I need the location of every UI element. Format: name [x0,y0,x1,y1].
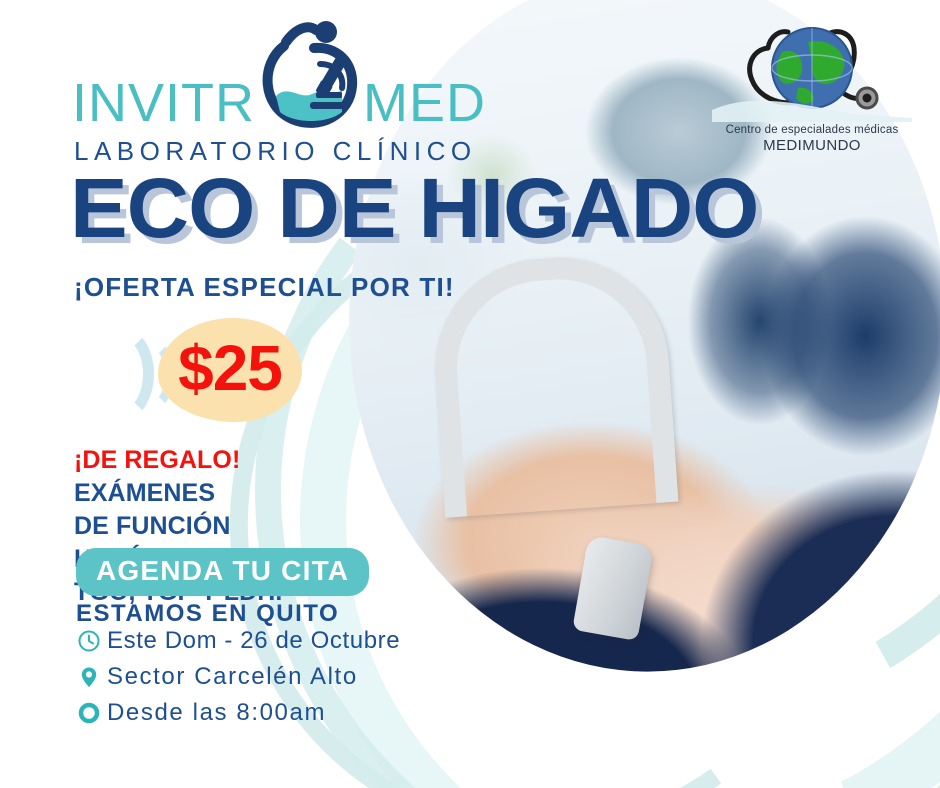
contact-list: Este Dom - 26 de Octubre Sector Carcelén… [76,624,406,732]
contact-location-text: Sector Carcelén Alto [107,663,358,691]
globe-stethoscope-icon [712,14,912,122]
contact-date-text: Este Dom - 26 de Octubre [107,627,400,655]
contact-time-text: Desde las 8:00am [107,699,326,727]
logo-wordmark: INVITRMED [72,76,472,130]
invitromed-logo: INVITRMED LABORATORIO CLÍNICO [72,24,472,158]
partner-caption-line1: Centro de especialades médicas [712,124,912,136]
logo-wordmark-part2: MED [363,73,486,133]
contact-row-location: Sector Carcelén Alto [76,660,406,694]
partner-caption-line2: MEDIMUNDO [712,137,912,154]
schedule-appointment-button[interactable]: AGENDA TU CITA [76,548,369,596]
promo-flyer: INVITRMED LABORATORIO CLÍNICO [0,0,940,788]
price-amount: $25 [158,330,302,406]
gift-line1-rest: EXÁMENES [74,479,215,507]
medimundo-logo: Centro de especialades médicas MEDIMUNDO [712,14,912,164]
logo-wordmark-part1: INVITR [72,73,255,133]
contact-row-date: Este Dom - 26 de Octubre [76,624,406,658]
circle-ring-icon [76,700,102,726]
gift-highlight: ¡DE REGALO! [74,446,240,474]
clock-icon [76,628,102,654]
headline-title: ECO DE HIGADO [70,166,758,250]
contact-row-time: Desde las 8:00am [76,696,406,730]
offer-subheadline: ¡OFERTA ESPECIAL POR TI! [74,272,455,303]
location-pin-icon [76,664,102,690]
